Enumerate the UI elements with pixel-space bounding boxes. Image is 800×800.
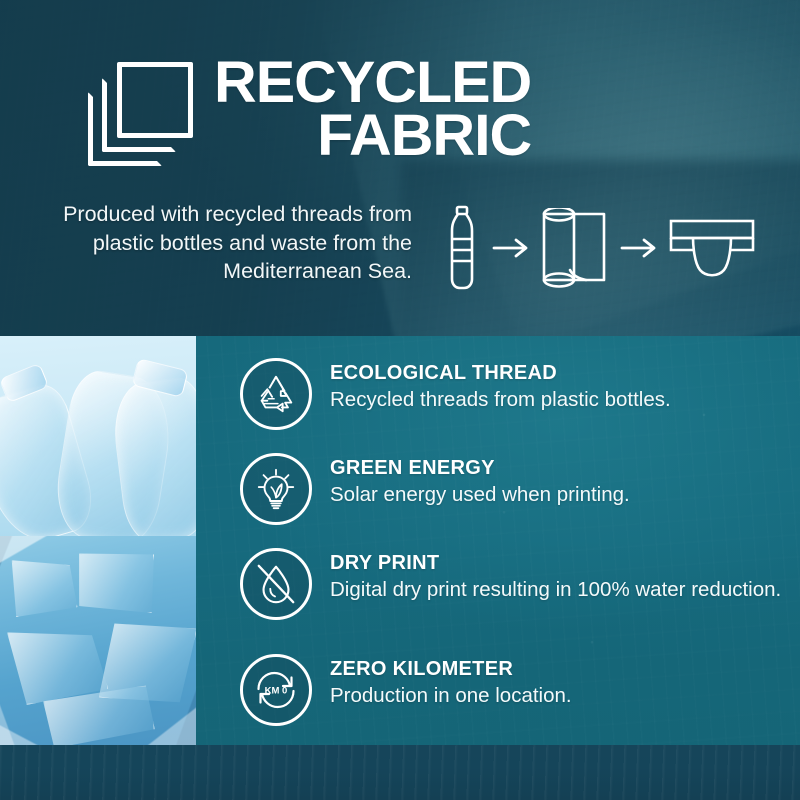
brand-logo-block: RECYCLED FABRIC (88, 52, 525, 178)
feature-title: ECOLOGICAL THREAD (330, 362, 671, 384)
stacked-square-front (117, 62, 193, 138)
recycled-plastic-bottles-photo (0, 336, 196, 745)
stacked-squares-icon (88, 52, 200, 178)
hero-title: RECYCLED FABRIC (214, 56, 525, 163)
hero-title-line-1: RECYCLED (214, 56, 531, 109)
recycling-arrows-icon (240, 358, 312, 430)
feature-item-zero-kilometer: KM 0 ZERO KILOMETER Production in one lo… (240, 654, 572, 726)
feature-item-ecological-thread: ECOLOGICAL THREAD Recycled threads from … (240, 358, 671, 430)
lightbulb-leaf-icon (240, 453, 312, 525)
feature-text-green-energy: GREEN ENERGY Solar energy used when prin… (330, 453, 630, 508)
hero-title-line-2: FABRIC (214, 109, 531, 162)
plastic-bottle-icon (440, 205, 484, 291)
no-water-drop-icon (240, 548, 312, 620)
arrow-right-icon (492, 235, 532, 261)
hero-section: RECYCLED FABRIC Produced with recycled t… (0, 0, 800, 336)
garment-briefs-icon (668, 215, 756, 281)
bottom-water-band (0, 745, 800, 800)
feature-text-ecological-thread: ECOLOGICAL THREAD Recycled threads from … (330, 358, 671, 413)
feature-description: Production in one location. (330, 683, 572, 709)
feature-item-green-energy: GREEN ENERGY Solar energy used when prin… (240, 453, 630, 525)
km-zero-icon: KM 0 (240, 654, 312, 726)
hero-subtitle: Produced with recycled threads from plas… (60, 200, 412, 286)
feature-item-dry-print: DRY PRINT Digital dry print resulting in… (240, 548, 781, 620)
feature-title: GREEN ENERGY (330, 457, 630, 479)
feature-title: DRY PRINT (330, 552, 781, 574)
km-zero-badge-text: KM 0 (265, 686, 288, 697)
feature-title: ZERO KILOMETER (330, 658, 572, 680)
infographic-page: RECYCLED FABRIC Produced with recycled t… (0, 0, 800, 800)
feature-description: Recycled threads from plastic bottles. (330, 387, 671, 413)
feature-text-zero-kilometer: ZERO KILOMETER Production in one locatio… (330, 654, 572, 709)
process-diagram (440, 205, 756, 291)
arrow-right-icon-2 (620, 235, 660, 261)
feature-text-dry-print: DRY PRINT Digital dry print resulting in… (330, 548, 781, 603)
feature-description: Digital dry print resulting in 100% wate… (330, 577, 781, 603)
feature-description: Solar energy used when printing. (330, 482, 630, 508)
fabric-roll-icon (540, 208, 612, 288)
